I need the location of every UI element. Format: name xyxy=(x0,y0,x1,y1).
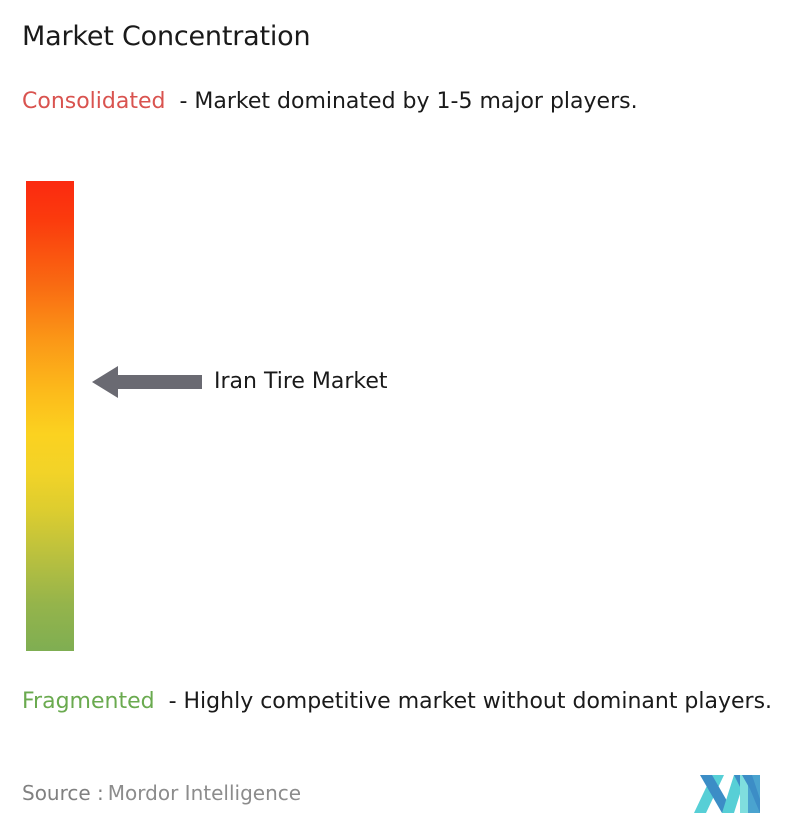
consolidated-separator: - xyxy=(165,89,194,114)
market-callout: Iran Tire Market xyxy=(92,365,388,399)
source-attribution: Source :Mordor Intelligence xyxy=(22,780,301,806)
consolidated-text: Market dominated by 1-5 major players. xyxy=(194,89,637,114)
arrow-left-icon xyxy=(92,365,202,399)
fragmented-description: Fragmented - Highly competitive market w… xyxy=(22,686,784,718)
page-title: Market Concentration xyxy=(22,21,310,52)
fragmented-text: Highly competitive market without domina… xyxy=(184,689,773,714)
source-value: Mordor Intelligence xyxy=(108,781,301,805)
fragmented-separator: - xyxy=(155,689,184,714)
market-callout-label: Iran Tire Market xyxy=(214,370,388,394)
consolidated-keyword: Consolidated xyxy=(22,89,165,114)
figure-footer: Source :Mordor Intelligence xyxy=(0,775,796,834)
consolidated-description: Consolidated - Market dominated by 1-5 m… xyxy=(22,86,767,118)
mordor-intelligence-logo xyxy=(694,767,766,821)
fragmented-keyword: Fragmented xyxy=(22,689,155,714)
concentration-gradient-bar xyxy=(26,181,74,651)
market-concentration-figure: Market Concentration Consolidated - Mark… xyxy=(0,0,796,834)
source-label: Source : xyxy=(22,781,104,805)
